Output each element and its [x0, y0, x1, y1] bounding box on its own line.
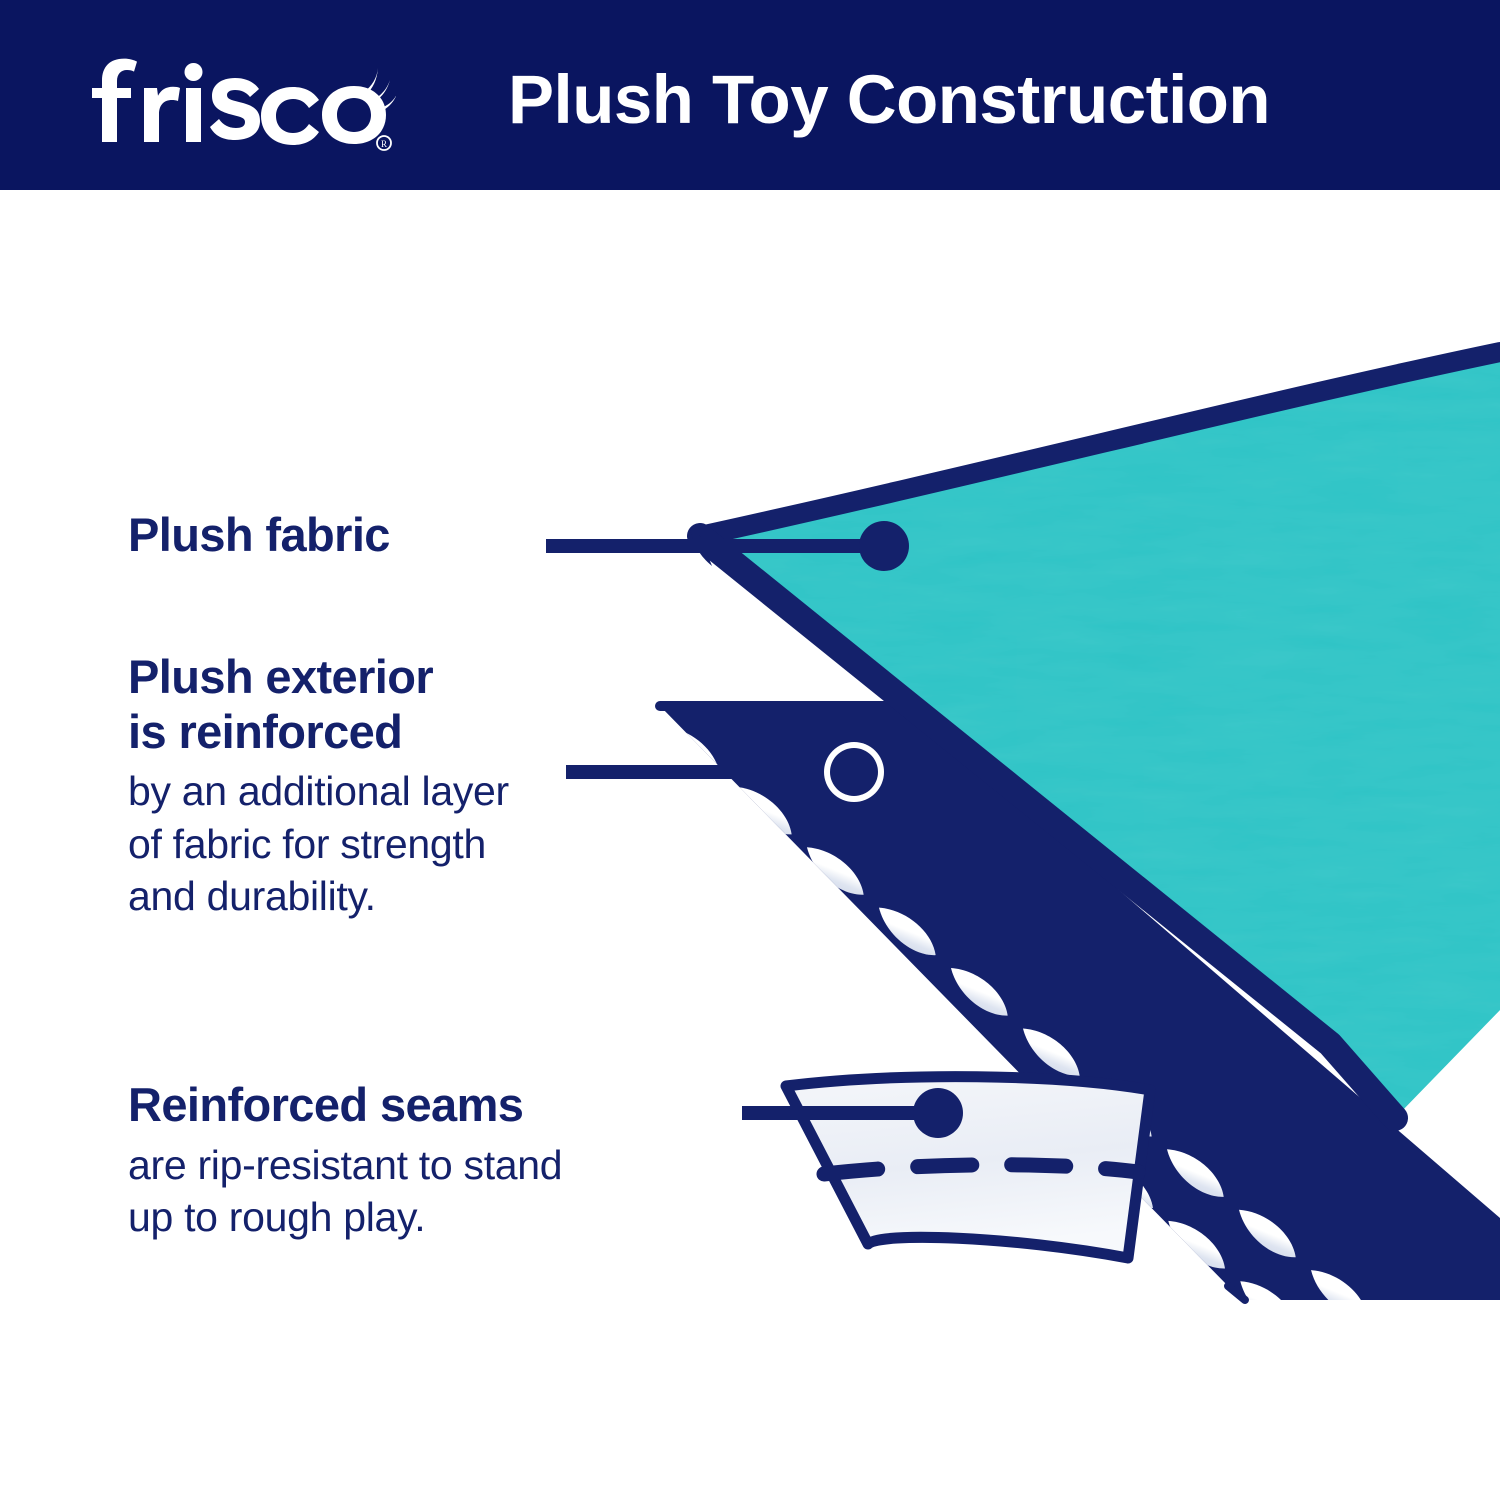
leader-line-reinforced-seams [742, 1088, 963, 1138]
leader-dot-plush-fabric [859, 521, 909, 571]
reinforcement-mesh-layer [412, 706, 1500, 1500]
frisco-logo: R [76, 44, 396, 154]
leader-dot-ring-plush-exterior [824, 742, 884, 802]
stitch-dash-line [824, 1165, 1138, 1174]
callout-reinforced-seams: Reinforced seams are rip-resistant to st… [128, 1078, 562, 1243]
callout-3-heading: Reinforced seams [128, 1078, 562, 1133]
leader-line-plush-exterior [566, 742, 884, 802]
callout-1-heading: Plush fabric [128, 508, 390, 563]
callout-2-body: by an additional layer of fabric for str… [128, 765, 509, 922]
registered-mark-icon: R [377, 136, 391, 150]
leader-dot-reinforced-seams [913, 1088, 963, 1138]
leader-dot-plush-exterior [830, 748, 878, 796]
callout-3-body: are rip-resistant to stand up to rough p… [128, 1139, 562, 1244]
panel-fold-edge [700, 536, 1500, 1300]
plush-fabric-panel [640, 330, 1500, 1150]
callout-plush-fabric: Plush fabric [128, 508, 390, 563]
reinforced-seam-flap [786, 1077, 1150, 1258]
frisco-logo-svg: R [76, 44, 396, 154]
infographic-page: R Plush Toy Construction [0, 0, 1500, 1500]
leader-line-plush-fabric [546, 521, 909, 571]
header-bar: R Plush Toy Construction [0, 0, 1500, 190]
callout-plush-exterior-reinforced: Plush exterior is reinforced by an addit… [128, 650, 509, 922]
page-title: Plush Toy Construction [508, 44, 1408, 154]
leader-lines [546, 521, 963, 1138]
svg-text:R: R [381, 139, 387, 149]
callout-2-heading: Plush exterior is reinforced [128, 650, 509, 759]
